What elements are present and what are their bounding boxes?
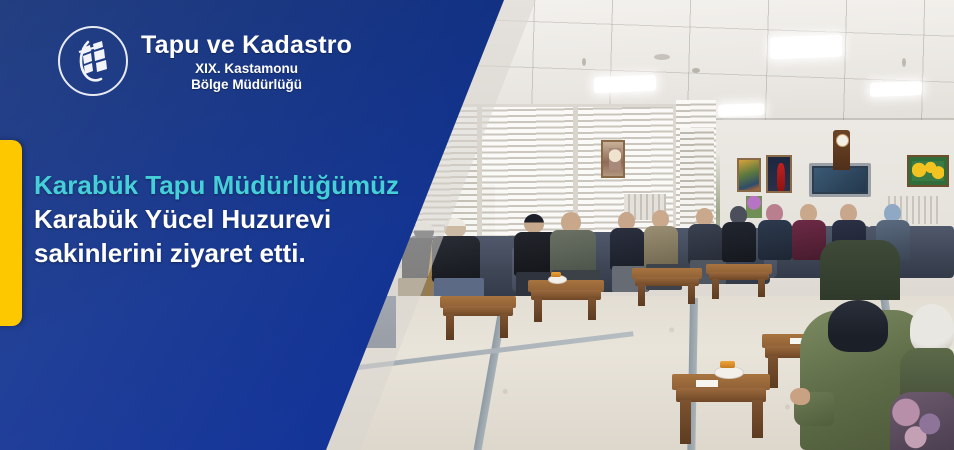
wall-clock bbox=[833, 130, 850, 170]
news-banner: Tapu ve Kadastro XIX. Kastamonu Bölge Mü… bbox=[0, 0, 954, 450]
smoke-detector bbox=[692, 68, 700, 73]
person-foreground-cap bbox=[828, 300, 888, 352]
ceiling-light bbox=[718, 103, 764, 117]
wall-picture bbox=[601, 140, 625, 178]
organisation-logo[interactable]: Tapu ve Kadastro XIX. Kastamonu Bölge Mü… bbox=[58, 26, 352, 96]
ceiling-light bbox=[594, 75, 656, 93]
wall-picture bbox=[766, 155, 792, 193]
logo-subtitle-region: XIX. Kastamonu bbox=[141, 62, 352, 76]
headline-line-3: sakinlerini ziyaret etti. bbox=[34, 236, 464, 270]
person-foreground-hand bbox=[790, 388, 810, 405]
flower-arrangement bbox=[746, 196, 762, 218]
person-shoulder-background bbox=[820, 240, 900, 300]
headline-block: Karabük Tapu Müdürlüğümüz Karabük Yücel … bbox=[34, 168, 464, 270]
tapu-kadastro-emblem-icon bbox=[58, 26, 128, 96]
ceiling-light bbox=[870, 81, 922, 97]
ceiling-vent bbox=[654, 54, 670, 60]
ceiling-light bbox=[770, 35, 842, 60]
wall-picture-sunflowers bbox=[907, 155, 949, 187]
accent-bar bbox=[0, 140, 22, 326]
headline-line-1: Karabük Tapu Müdürlüğümüz bbox=[34, 168, 464, 202]
logo-text-block: Tapu ve Kadastro XIX. Kastamonu Bölge Mü… bbox=[141, 31, 352, 91]
headline-line-2: Karabük Yücel Huzurevi bbox=[34, 202, 464, 236]
logo-title: Tapu ve Kadastro bbox=[141, 33, 352, 58]
sprinkler-head bbox=[582, 58, 586, 66]
logo-subtitle-directorate: Bölge Müdürlüğü bbox=[141, 78, 352, 92]
wall-picture bbox=[737, 158, 761, 192]
sprinkler-head bbox=[902, 58, 906, 67]
person-foreground-floral-scarf bbox=[890, 392, 954, 450]
person-foreground-white-hair bbox=[910, 304, 954, 354]
